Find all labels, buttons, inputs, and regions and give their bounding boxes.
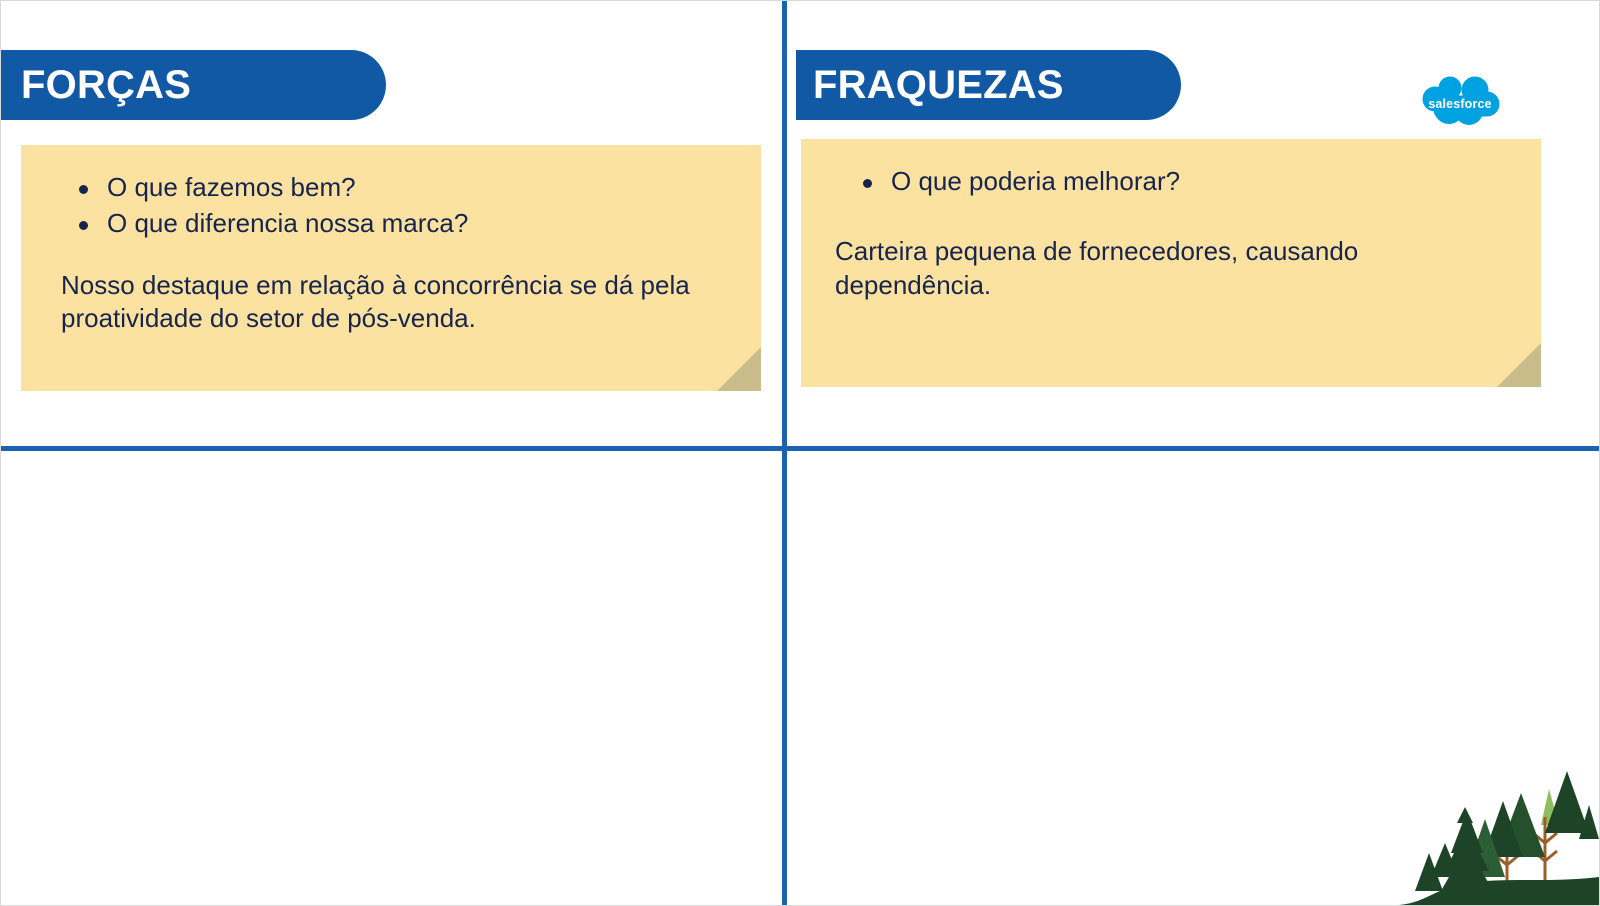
quadrant-weaknesses: FRAQUEZAS O que poderia melhorar? Cartei… <box>787 1 1600 446</box>
spacer <box>823 201 1507 235</box>
quadrant-header-strengths: FORÇAS <box>0 50 386 120</box>
salesforce-logo: salesforce <box>1419 73 1501 129</box>
note-body-strengths: Nosso destaque em relação à concorrência… <box>43 269 727 337</box>
quadrant-header-weaknesses: FRAQUEZAS <box>796 50 1181 120</box>
quadrant-opportunities: OPORTUNIDADES Existem lacunas de mercado… <box>1 451 782 906</box>
quadrant-threats: AMEAÇAS Ocorram mudanças na indústria? O… <box>787 451 1600 906</box>
folded-corner-icon <box>1497 343 1541 387</box>
note-card-weaknesses: O que poderia melhorar? Carteira pequena… <box>801 139 1541 387</box>
swot-canvas: FORÇAS O que fazemos bem? O que diferenc… <box>0 0 1600 906</box>
list-item: O que diferencia nossa marca? <box>87 207 727 241</box>
quadrant-title-strengths: FORÇAS <box>21 65 191 105</box>
note-card-strengths: O que fazemos bem? O que diferencia noss… <box>21 145 761 391</box>
bullet-list-strengths: O que fazemos bem? O que diferencia noss… <box>43 171 727 241</box>
quadrant-title-weaknesses: FRAQUEZAS <box>813 65 1064 105</box>
list-item: O que poderia melhorar? <box>871 165 1507 199</box>
spacer <box>43 243 727 269</box>
bullet-list-weaknesses: O que poderia melhorar? <box>823 165 1507 199</box>
list-item: O que fazemos bem? <box>87 171 727 205</box>
folded-corner-icon <box>717 347 761 391</box>
quadrant-strengths: FORÇAS O que fazemos bem? O que diferenc… <box>1 1 782 446</box>
svg-text:salesforce: salesforce <box>1428 97 1491 111</box>
note-body-weaknesses: Carteira pequena de fornecedores, causan… <box>823 235 1507 303</box>
